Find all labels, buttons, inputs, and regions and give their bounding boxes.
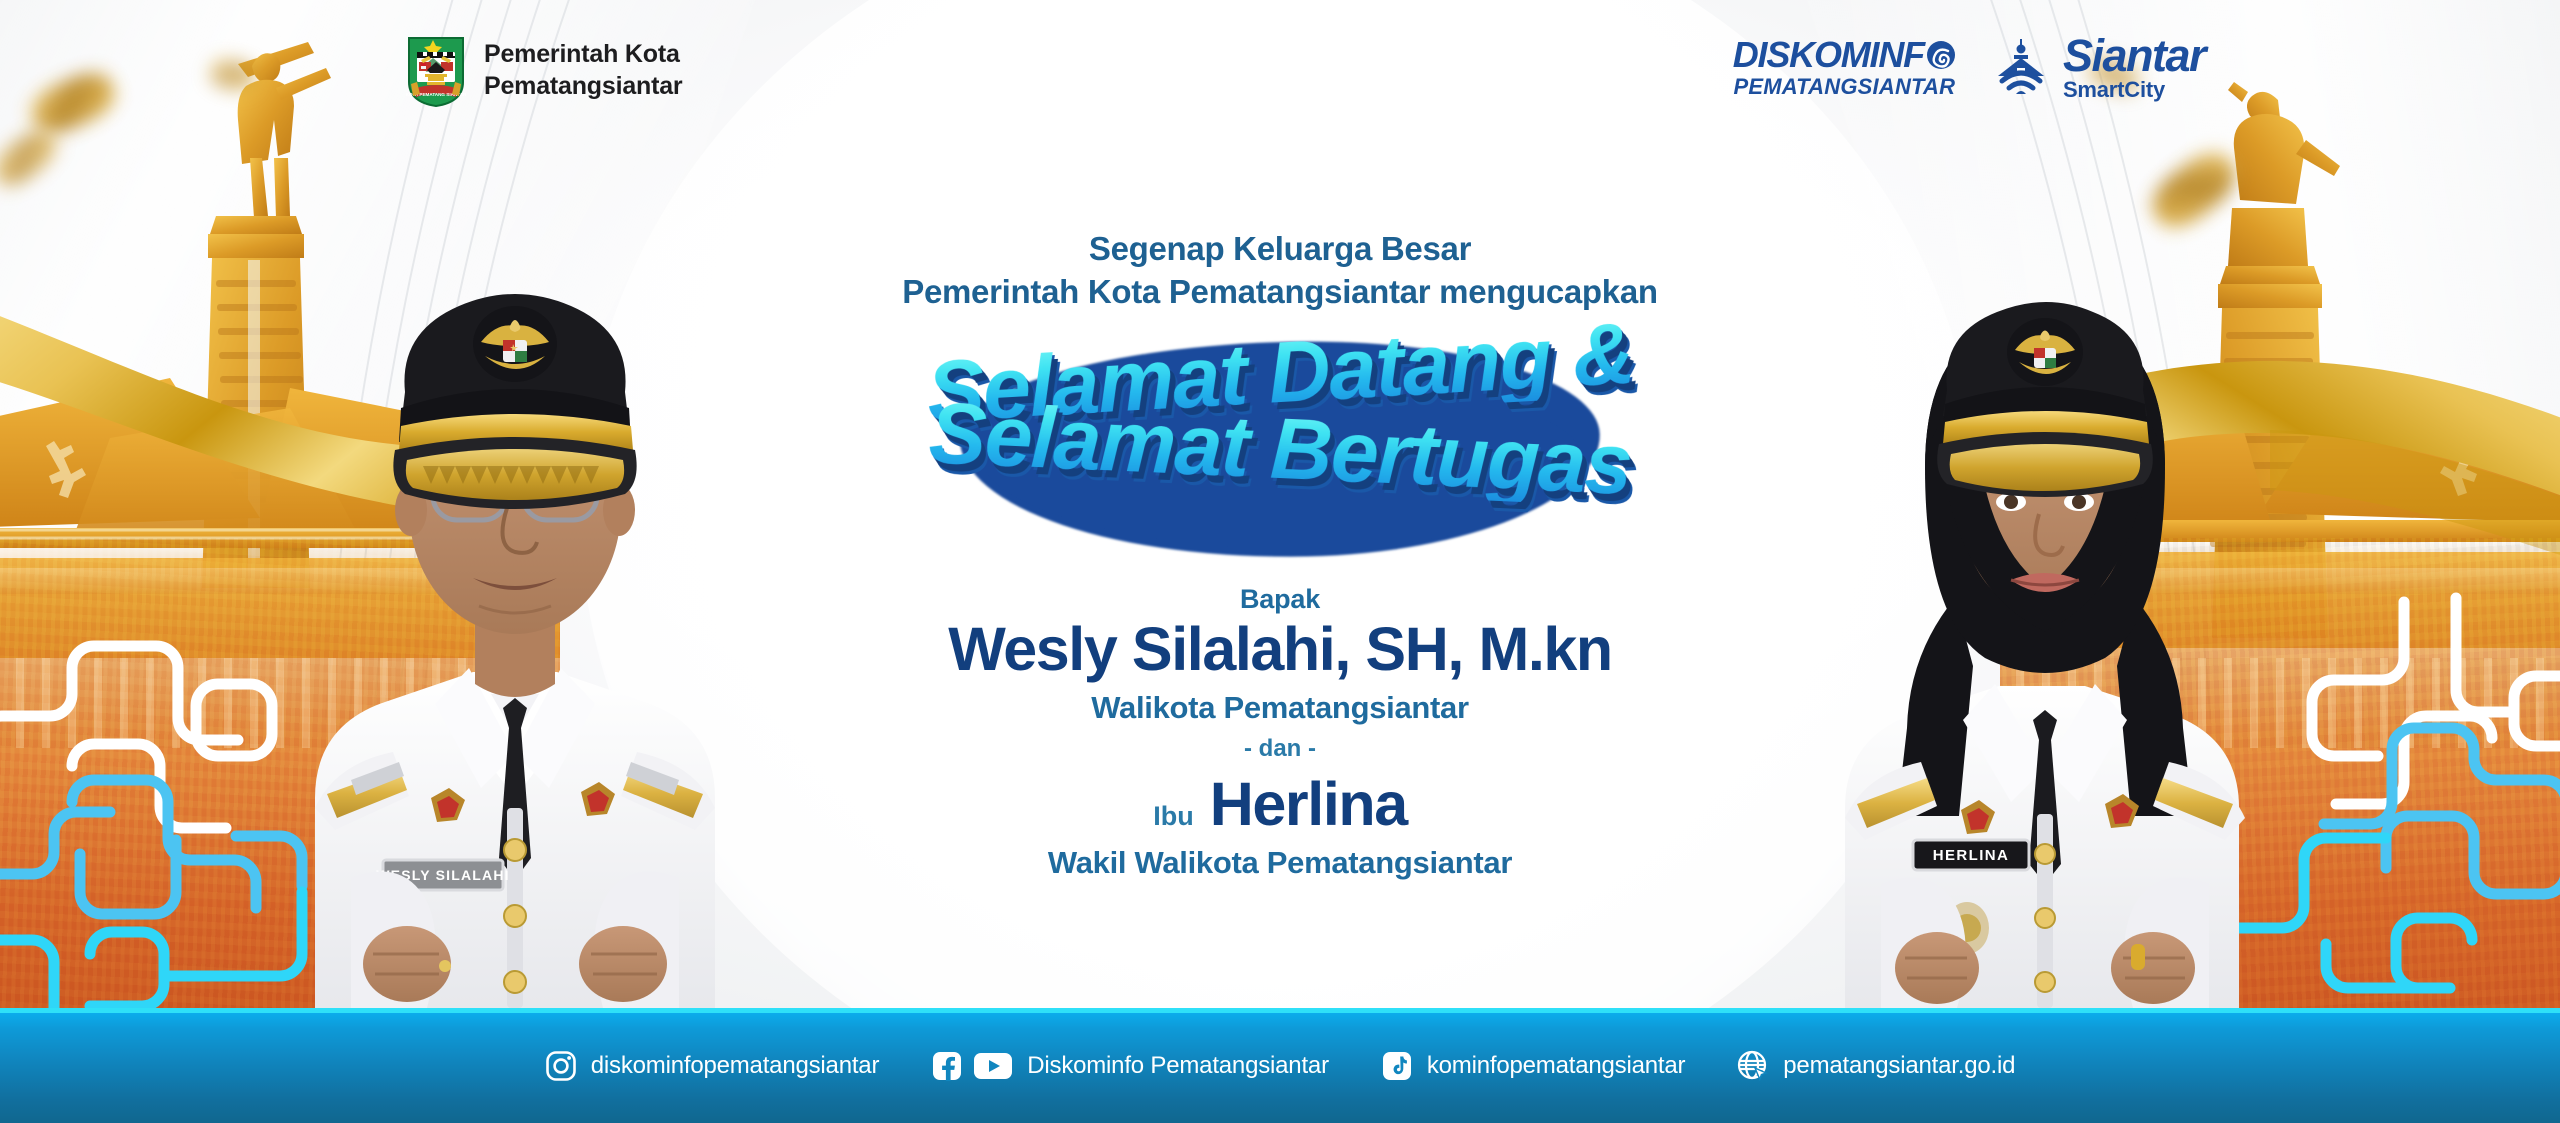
footer-item-facebook-youtube[interactable]: Diskominfo Pematangsiantar: [931, 1050, 1329, 1082]
welcome-banner: WESLY SILALAHI: [0, 0, 2560, 1123]
instagram-icon-group: [545, 1050, 577, 1082]
diskominfo-text: DISKOMINF: [1733, 37, 1924, 73]
footer-item-tiktok[interactable]: kominfopematangsiantar: [1381, 1050, 1685, 1082]
instagram-icon[interactable]: [545, 1050, 577, 1082]
city-government-logo: KOTA PEMATANG SIANTAR Pemerintah Kota Pe…: [405, 32, 682, 108]
vice-mayor-honorific: Ibu: [1153, 801, 1194, 832]
smartcity-wordmark: SmartCity: [2063, 79, 2205, 101]
tiktok-handle: kominfopematangsiantar: [1427, 1052, 1685, 1080]
footer-item-website[interactable]: pematangsiantar.go.id: [1737, 1050, 2015, 1082]
siantar-dome-wifi-icon: [1990, 36, 2052, 98]
tiktok-icon[interactable]: [1381, 1050, 1413, 1082]
instagram-handle: diskominfopematangsiantar: [591, 1052, 880, 1080]
svg-text:HERLINA: HERLINA: [1933, 847, 2009, 864]
diskominfo-wordmark: DISKOMINF: [1733, 37, 1956, 73]
vice-mayor-portrait: HERLINA: [1795, 128, 2295, 1008]
lead-line-2: Pemerintah Kota Pematangsiantar mengucap…: [690, 271, 1870, 314]
confetti-piece: [0, 122, 64, 193]
mayor-role: Walikota Pematangsiantar: [690, 690, 1870, 726]
vice-mayor-role: Wakil Walikota Pematangsiantar: [690, 845, 1870, 881]
youtube-icon[interactable]: [973, 1051, 1013, 1081]
headline: Selamat Datang & Selamat Bertugas: [690, 328, 1870, 493]
headline-block: Selamat Datang & Selamat Bertugas: [690, 328, 1870, 578]
vice-mayor-nametag: HERLINA: [1913, 840, 2029, 870]
vice-mayor-name: Herlina: [1210, 769, 1407, 839]
diskominfo-logo: DISKOMINF PEMATANGSIANTAR: [1733, 37, 1956, 98]
partner-logos: DISKOMINF PEMATANGSIANTAR: [1733, 33, 2205, 101]
siantar-smart-city-logo: Siantar SmartCity: [1990, 33, 2205, 101]
facebook-youtube-icon-group: [931, 1050, 1013, 1082]
main-content: Segenap Keluarga Besar Pemerintah Kota P…: [690, 228, 1870, 881]
facebook-icon[interactable]: [931, 1050, 963, 1082]
diskominfo-subtitle: PEMATANGSIANTAR: [1733, 76, 1955, 98]
globe-cursor-icon[interactable]: [1737, 1050, 1769, 1082]
website-icon-group: [1737, 1050, 1769, 1082]
facebook-youtube-handle: Diskominfo Pematangsiantar: [1027, 1052, 1329, 1080]
gov-line-2: Pematangsiantar: [484, 70, 682, 102]
mayor-name: Wesly Silalahi, SH, M.kn: [690, 617, 1870, 683]
spiral-globe-icon: [1926, 40, 1956, 70]
pematangsiantar-city-crest-icon: KOTA PEMATANG SIANTAR: [405, 32, 467, 108]
lead-line-1: Segenap Keluarga Besar: [690, 228, 1870, 271]
website-url: pematangsiantar.go.id: [1783, 1052, 2015, 1080]
footer-item-instagram[interactable]: diskominfopematangsiantar: [545, 1050, 880, 1082]
siantar-wordmark: Siantar: [2063, 33, 2205, 78]
social-footer-bar: diskominfopematangsiantar Diskominfo Pem…: [0, 1008, 2560, 1123]
officials-block: Bapak Wesly Silalahi, SH, M.kn Walikota …: [690, 584, 1870, 881]
separator-dan: - dan -: [690, 735, 1870, 763]
gov-line-1: Pemerintah Kota: [484, 38, 682, 70]
mayor-honorific: Bapak: [690, 584, 1870, 615]
vice-mayor-name-row: Ibu Herlina: [690, 769, 1870, 839]
tiktok-icon-group: [1381, 1050, 1413, 1082]
city-government-label: Pemerintah Kota Pematangsiantar: [484, 38, 682, 102]
